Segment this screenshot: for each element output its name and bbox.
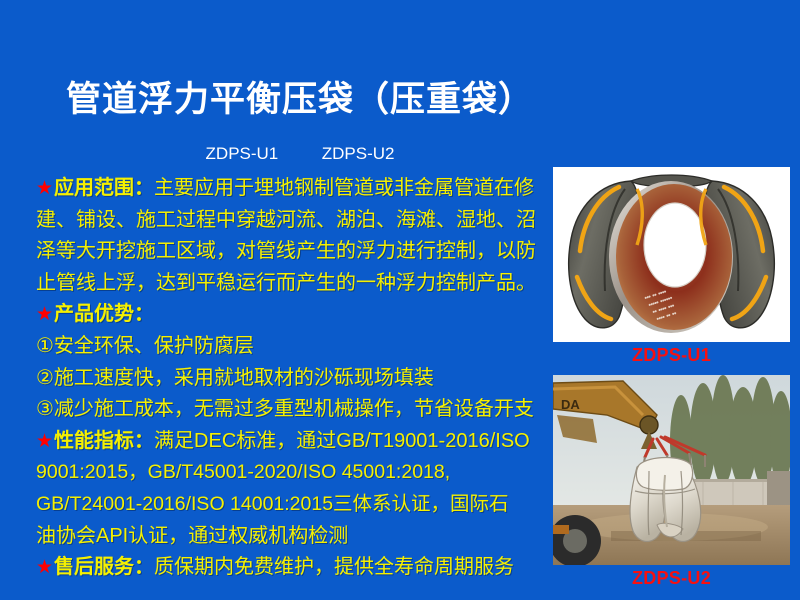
text-line: 泽等大开挖施工区域，对管线产生的浮力进行控制，以防 (36, 236, 546, 268)
product-photo-zdps-u1: ●●● ●● ●●●● ●●●●● ●●●●●● ●● ●●●● ●●● ●●●… (553, 167, 790, 342)
line-body: ②施工速度快，采用就地取材的沙砾现场填装 (36, 367, 434, 389)
text-line: GB/T24001-2016/ISO 14001:2015三体系认证，国际石 (36, 489, 546, 521)
text-line: 9001:2015，GB/T45001-2020/ISO 45001:2018, (36, 457, 546, 489)
line-body: 油协会API认证，通过权威机构检测 (36, 525, 348, 547)
line-body: 主要应用于埋地钢制管道或非金属管道在修 (154, 177, 534, 199)
line-body: 满足DEC标准，通过GB/T19001-2016/ISO (154, 430, 530, 452)
text-line: 油协会API认证，通过权威机构检测 (36, 521, 546, 553)
text-line: 建、铺设、施工过程中穿越河流、湖泊、海滩、湿地、沼 (36, 205, 546, 237)
body-text-block: ★应用范围：主要应用于埋地钢制管道或非金属管道在修 建、铺设、施工过程中穿越河流… (36, 173, 546, 584)
svg-text:DA: DA (561, 397, 580, 412)
excavator-lifting-saddle-bag-illustration: DA (553, 375, 790, 565)
model-subtitle: ZDPS-U1 ZDPS-U2 (0, 143, 600, 165)
line-heading: 应用范围： (54, 177, 154, 199)
product-photo-zdps-u2: DA (553, 375, 790, 565)
line-heading: 售后服务： (54, 556, 154, 578)
photo-caption-zdps-u1: ZDPS-U1 (553, 345, 790, 366)
star-bullet-icon: ★ (36, 431, 53, 452)
pipe-with-weight-bags-illustration: ●●● ●● ●●●● ●●●●● ●●●●●● ●● ●●●● ●●● ●●●… (553, 167, 790, 342)
model-label-1: ZDPS-U1 (206, 143, 279, 165)
star-bullet-icon: ★ (36, 557, 53, 578)
page-title: 管道浮力平衡压袋（压重袋） (0, 78, 600, 122)
text-line: ★售后服务：质保期内免费维护，提供全寿命周期服务 (36, 552, 546, 584)
slide-root: 管道浮力平衡压袋（压重袋） ZDPS-U1 ZDPS-U2 ★应用范围：主要应用… (0, 0, 800, 600)
star-bullet-icon: ★ (36, 304, 53, 325)
model-label-2: ZDPS-U2 (322, 143, 395, 165)
line-body: ①安全环保、保护防腐层 (36, 335, 254, 357)
text-line: ③减少施工成本，无需过多重型机械操作，节省设备开支 (36, 394, 546, 426)
line-body: 9001:2015，GB/T45001-2020/ISO 45001:2018, (36, 461, 450, 483)
star-bullet-icon: ★ (36, 178, 53, 199)
text-line: ★应用范围：主要应用于埋地钢制管道或非金属管道在修 (36, 173, 546, 205)
line-heading: 产品优势： (54, 303, 154, 325)
text-line: ★性能指标：满足DEC标准，通过GB/T19001-2016/ISO (36, 426, 546, 458)
line-heading: 性能指标： (54, 430, 154, 452)
text-line: ②施工速度快，采用就地取材的沙砾现场填装 (36, 363, 546, 395)
line-body: 质保期内免费维护，提供全寿命周期服务 (154, 556, 514, 578)
line-body: 止管线上浮，达到平稳运行而产生的一种浮力控制产品。 (36, 272, 536, 294)
photo-caption-zdps-u2: ZDPS-U2 (553, 568, 790, 589)
line-body: ③减少施工成本，无需过多重型机械操作，节省设备开支 (36, 398, 534, 420)
line-body: 泽等大开挖施工区域，对管线产生的浮力进行控制，以防 (36, 240, 536, 262)
text-line: ★产品优势： (36, 299, 546, 331)
line-body: GB/T24001-2016/ISO 14001:2015三体系认证，国际石 (36, 493, 509, 515)
text-line: ①安全环保、保护防腐层 (36, 331, 546, 363)
line-body: 建、铺设、施工过程中穿越河流、湖泊、海滩、湿地、沼 (36, 209, 536, 231)
text-line: 止管线上浮，达到平稳运行而产生的一种浮力控制产品。 (36, 268, 546, 300)
